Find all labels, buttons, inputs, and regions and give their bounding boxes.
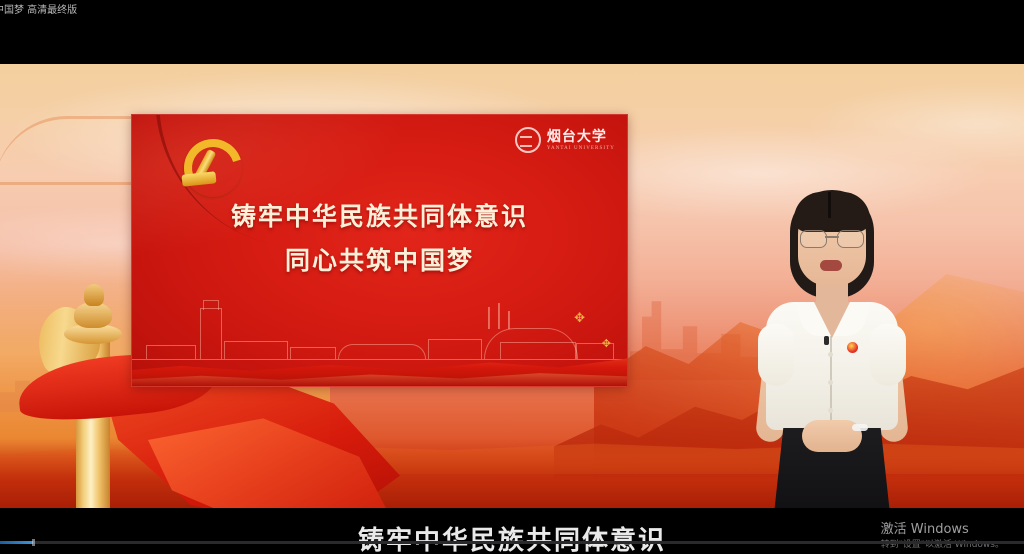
skyline-block-1 xyxy=(146,345,196,359)
skyline-dome-base xyxy=(500,342,576,359)
skyline-block-4 xyxy=(428,339,482,359)
presenter-speaker xyxy=(744,184,920,508)
video-canvas[interactable]: 烟台大学 YANTAI UNIVERSITY 铸牢中华民族共同体意识 同心共筑中… xyxy=(0,64,1024,508)
skyline-hill xyxy=(338,344,426,359)
presenter-hair-top xyxy=(794,192,870,232)
university-name-en: YANTAI UNIVERSITY xyxy=(547,146,615,151)
party-emblem-badge-icon xyxy=(847,342,858,353)
dove-icon: ✥ xyxy=(602,339,611,350)
presenter-mouth xyxy=(820,260,842,271)
skyline-mast-1 xyxy=(488,307,490,329)
presenter-hair-part xyxy=(828,192,831,218)
blouse-button xyxy=(828,352,833,357)
video-seek-bar[interactable] xyxy=(0,541,1024,544)
presentation-slide: 烟台大学 YANTAI UNIVERSITY 铸牢中华民族共同体意识 同心共筑中… xyxy=(131,114,628,387)
window-titlebar: 筑中国梦 高清最终版 xyxy=(0,0,1024,22)
presenter-sleeve-left xyxy=(758,324,794,386)
presenter-bracelet xyxy=(852,424,868,431)
blouse-button xyxy=(828,408,833,413)
skyline-mast-2 xyxy=(498,303,500,329)
university-name-cn: 烟台大学 xyxy=(547,130,615,144)
skyline-block-2 xyxy=(224,341,288,359)
presenter-sleeve-right xyxy=(870,324,906,386)
player-bottom-bar: 铸牢中华民族共同体意识 激活 Windows 转到"设置"以激活 Windows… xyxy=(0,508,1024,554)
glasses-lens-right xyxy=(837,230,864,248)
blouse-button xyxy=(828,380,833,385)
glasses-icon xyxy=(800,230,864,246)
window-title: 筑中国梦 高清最终版 xyxy=(0,5,77,17)
glasses-lens-left xyxy=(800,230,827,248)
huabiao-beast-icon xyxy=(84,284,104,306)
skyline-tower xyxy=(200,308,222,359)
hammer-and-sickle-icon xyxy=(176,133,234,195)
dove-icon: ✥ xyxy=(574,311,585,324)
slide-title-line-1: 铸牢中华民族共同体意识 xyxy=(132,197,627,233)
video-subtitle: 铸牢中华民族共同体意识 xyxy=(0,520,1024,554)
slide-title-line-2: 同心共筑中国梦 xyxy=(132,241,627,277)
skyline-block-3 xyxy=(290,347,336,359)
slide-skyline-outline xyxy=(132,305,628,360)
university-seal-icon xyxy=(515,127,541,153)
skyline-mast-3 xyxy=(508,311,510,329)
slide-title-block: 铸牢中华民族共同体意识 同心共筑中国梦 xyxy=(132,197,627,277)
lapel-microphone-icon xyxy=(824,336,829,345)
seek-bar-handle[interactable] xyxy=(32,539,35,546)
university-logo-text: 烟台大学 YANTAI UNIVERSITY xyxy=(547,130,615,151)
university-logo: 烟台大学 YANTAI UNIVERSITY xyxy=(515,127,615,153)
seek-bar-progress xyxy=(0,541,33,544)
media-player-window: 筑中国梦 高清最终版 xyxy=(0,0,1024,554)
